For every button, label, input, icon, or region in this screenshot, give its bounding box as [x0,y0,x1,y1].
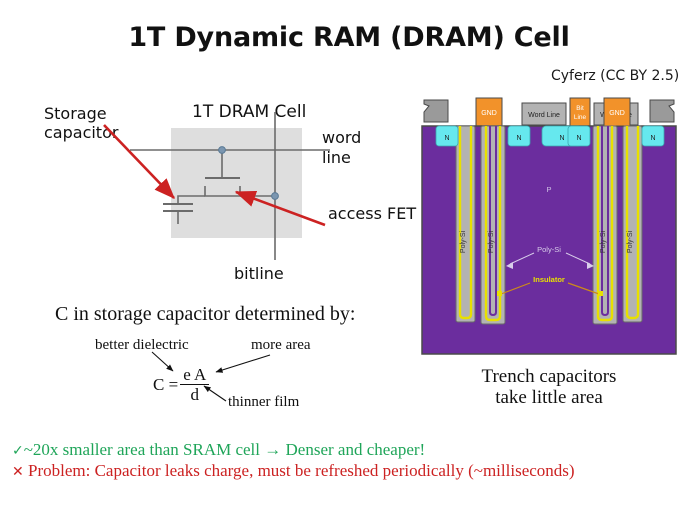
word-line-left-label: Word Line [528,112,560,119]
contact-left-edge [424,100,448,122]
poly-si-label-4: Poly-Si [627,230,634,253]
trench-caption-line1: Trench capacitors [418,366,680,387]
bullet-item-problem: ✕ Problem: Capacitor leaks charge, must … [12,461,688,482]
n-region-1-label: N [444,135,449,142]
annotation-arrows [30,100,360,290]
contact-right-edge [650,100,674,122]
gnd-left-label: GND [481,110,497,117]
trench-caption: Trench capacitors take little area [418,366,680,408]
bullet-advantage-text: ~20x smaller area than SRAM cell → Dense… [24,440,425,459]
gnd-right-label: GND [609,110,625,117]
trench-right-inner-poly [593,126,617,324]
callout-poly-si-label: Poly-Si [537,245,561,254]
poly-si-label-1: Poly-Si [460,230,467,253]
access-fet-arrow [236,192,325,225]
poly-si-label-3: Poly-Si [600,230,607,253]
callout-insulator-label: Insulator [533,275,565,284]
callout-insulator-marker-right [598,291,603,296]
bit-line-box [570,98,590,126]
trench-right-inner: Poly-Si [593,126,617,324]
bullet-item-advantage: ✓~20x smaller area than SRAM cell → Dens… [12,440,688,461]
callout-insulator-marker-left [497,291,502,296]
leader-area [216,355,270,372]
trench-caption-line2: take little area [418,387,680,408]
n-region-3-label: N [559,135,564,142]
n-region-2-label: N [516,135,521,142]
leader-dielectric [152,352,173,371]
check-icon: ✓ [12,443,24,459]
slide-canvas: 1T Dynamic RAM (DRAM) Cell Cyferz (CC BY… [0,0,698,523]
n-region-4-label: N [576,135,581,142]
formula-intro: C in storage capacitor determined by: [55,303,355,326]
trench-cross-section-svg: GND Word Line Bit Line Word Line GND [418,92,680,358]
bullet-list: ✓~20x smaller area than SRAM cell → Dens… [12,440,688,482]
leader-thinner [204,386,226,401]
bit-line-label-2: Line [574,114,587,121]
bit-line-label-1: Bit [576,105,584,112]
storage-capacitor-arrow [104,125,174,198]
trench-capacitor-figure: GND Word Line Bit Line Word Line GND [418,92,680,358]
trench-left-outer: Poly-Si [456,126,475,322]
image-attribution: Cyferz (CC BY 2.5) [551,68,679,84]
trench-right-outer: Poly-Si [623,126,642,322]
formula-leader-lines [40,330,370,425]
n-region-5-label: N [650,135,655,142]
p-substrate-label: P [546,185,551,194]
cross-icon: ✕ [12,464,24,480]
bullet-problem-text: Problem: Capacitor leaks charge, must be… [28,461,575,480]
poly-si-label-2: Poly-Si [488,230,495,253]
page-title: 1T Dynamic RAM (DRAM) Cell [0,22,698,53]
